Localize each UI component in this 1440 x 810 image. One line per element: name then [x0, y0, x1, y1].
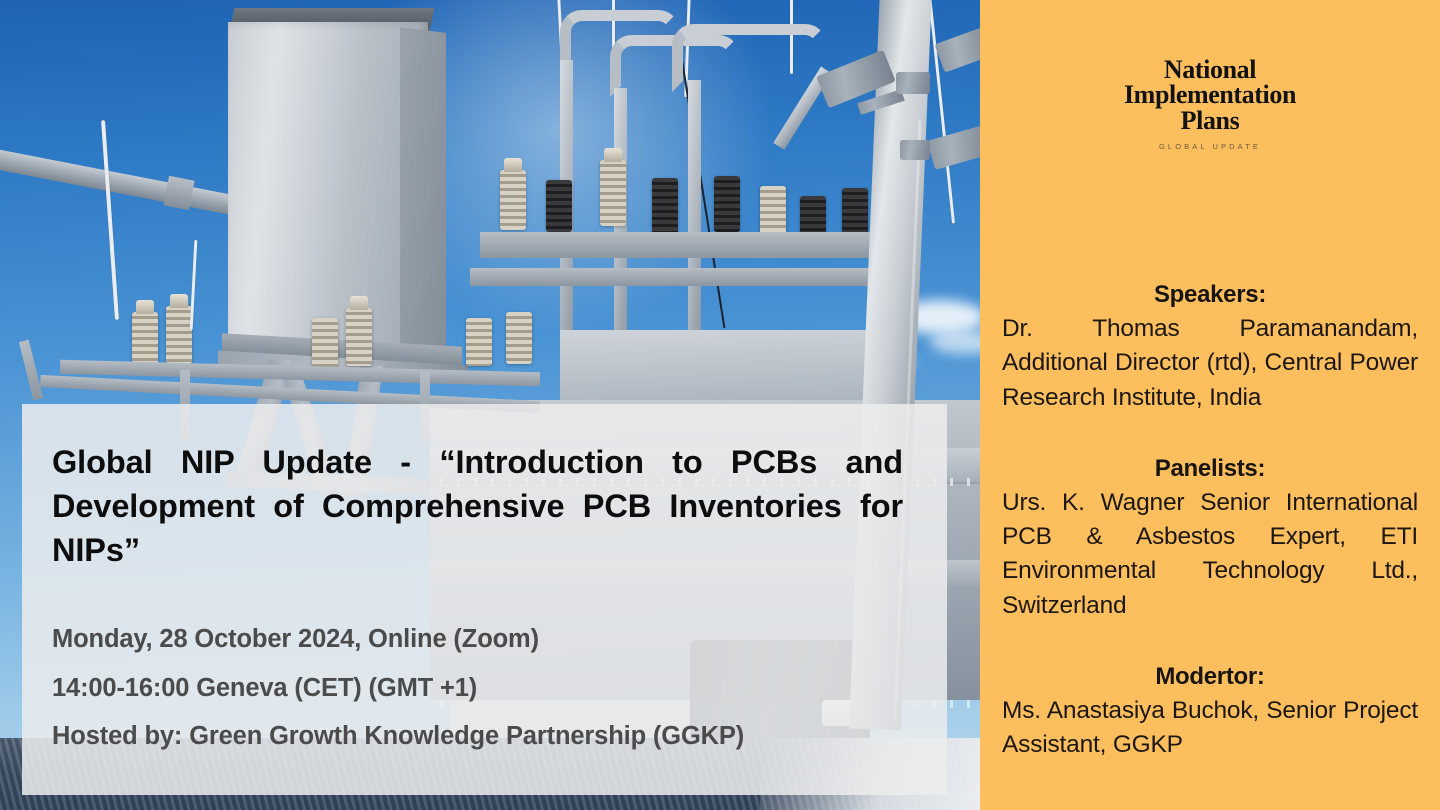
speakers-heading: Speakers: [1002, 281, 1418, 309]
role-group-speakers: Speakers: Dr. Thomas Paramanandam, Addit… [1002, 281, 1418, 415]
webinar-promo-poster: Global NIP Update - “Introduction to PCB… [0, 0, 1440, 810]
switchgear-deck-beam [480, 232, 880, 258]
insulator-bushing [500, 170, 526, 230]
event-title: Global NIP Update - “Introduction to PCB… [32, 440, 919, 573]
insulator-bushing [466, 318, 492, 366]
event-host-line: Hosted by: Green Growth Knowledge Partne… [52, 712, 899, 761]
control-cabinet [228, 22, 428, 352]
speakers-body: Dr. Thomas Paramanandam, Additional Dire… [1002, 312, 1418, 415]
pole-bracket [896, 72, 930, 94]
bushing-cap [350, 296, 368, 310]
switchgear-deck-beam [470, 268, 890, 286]
insulator-bushing [546, 180, 572, 232]
insulator-bushing [714, 176, 740, 232]
insulator-bushing [652, 178, 678, 236]
bushing-cap [170, 294, 188, 308]
insulator-bushing [312, 318, 338, 368]
panelists-heading: Panelists: [1002, 455, 1418, 483]
roles-list: Speakers: Dr. Thomas Paramanandam, Addit… [1002, 281, 1418, 789]
pole-bracket [900, 140, 930, 160]
logo-line-national: National [980, 57, 1440, 82]
bushing-cap [604, 148, 622, 162]
insulator-bushing [166, 306, 192, 364]
insulator-bushing [132, 312, 158, 366]
bushing-cap [136, 300, 154, 314]
insulator-bushing [600, 160, 626, 226]
spacer [1002, 441, 1418, 455]
event-time-line: 14:00-16:00 Geneva (CET) (GMT +1) [52, 664, 899, 713]
role-group-moderator: Modertor: Ms. Anastasiya Buchok, Senior … [1002, 663, 1418, 763]
logo-line-plans: Plans [980, 108, 1440, 133]
role-group-panelists: Panelists: Urs. K. Wagner Senior Interna… [1002, 455, 1418, 623]
moderator-heading: Modertor: [1002, 663, 1418, 691]
event-date-line: Monday, 28 October 2024, Online (Zoom) [52, 615, 899, 664]
moderator-body: Ms. Anastasiya Buchok, Senior Project As… [1002, 694, 1418, 763]
riser-tube [688, 80, 701, 350]
cabinet-side-face [400, 27, 446, 353]
speakers-panel: National Implementation Plans GLOBAL UPD… [980, 0, 1440, 810]
panelists-body: Urs. K. Wagner Senior International PCB … [1002, 486, 1418, 623]
insulator-bushing [346, 308, 372, 366]
nip-logo: National Implementation Plans GLOBAL UPD… [980, 57, 1440, 151]
event-details: Monday, 28 October 2024, Online (Zoom) 1… [32, 615, 919, 762]
logo-line-implementation: Implementation [980, 82, 1440, 107]
logo-subtitle: GLOBAL UPDATE [980, 142, 1440, 151]
bushing-cap [504, 158, 522, 172]
insulator-bushing [506, 312, 532, 364]
event-info-panel: Global NIP Update - “Introduction to PCB… [22, 404, 947, 795]
spacer [1002, 649, 1418, 663]
